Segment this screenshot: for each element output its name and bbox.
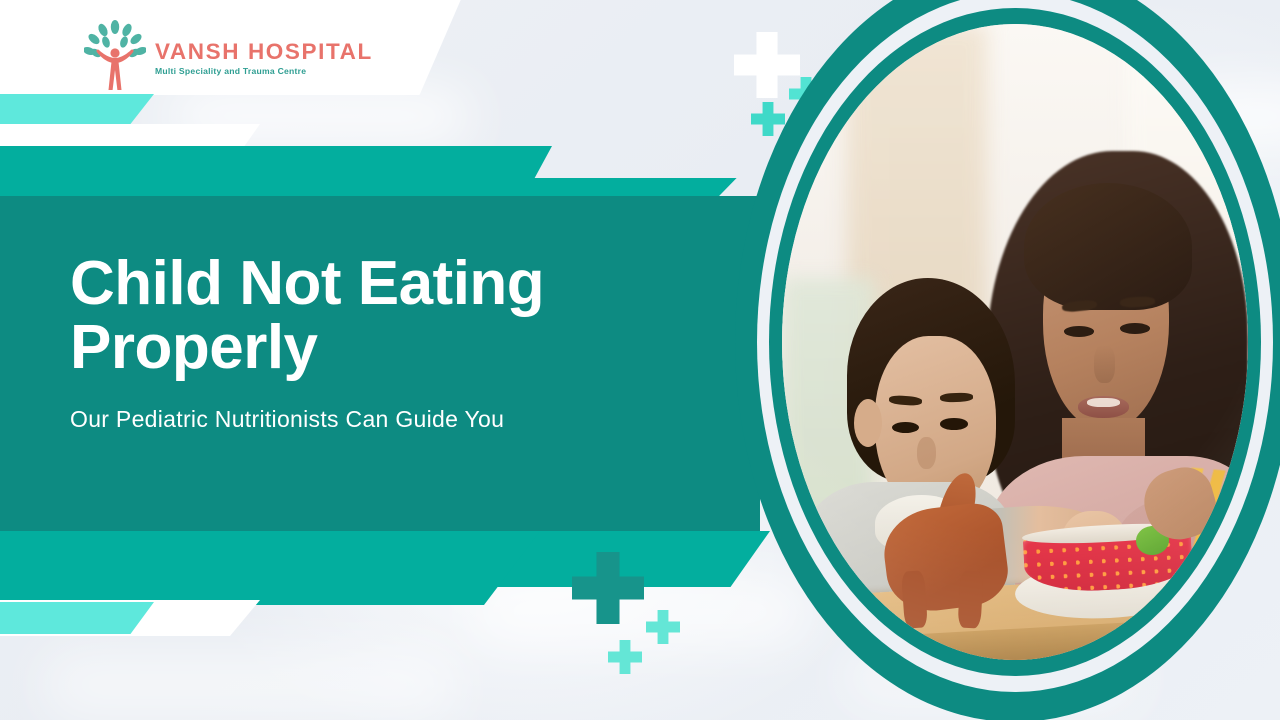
photo-scene (782, 24, 1248, 660)
hospital-promo-banner: VANSH HOSPITAL Multi Speciality and Trau… (0, 0, 1280, 720)
toy-dinosaur-leg (958, 570, 984, 628)
mother-eye (1064, 326, 1094, 337)
background-glow (40, 650, 460, 720)
child-eye (892, 422, 920, 433)
mother-nose (1094, 345, 1115, 383)
child-ear (854, 399, 882, 447)
subheadline: Our Pediatric Nutritionists Can Guide Yo… (70, 406, 690, 433)
mother-hair-front (1024, 183, 1192, 310)
decor-teal-band-bottom-2 (0, 531, 540, 605)
decor-mint-stripe-top (0, 94, 154, 124)
brand-logo: VANSH HOSPITAL Multi Speciality and Trau… (84, 20, 373, 92)
cross-cluster-bottom (568, 550, 688, 670)
tree-with-person-icon (84, 20, 146, 92)
medical-cross-icon (646, 610, 680, 644)
child-eye (940, 418, 968, 429)
headline-line-2: Properly (70, 316, 690, 380)
brand-tagline: Multi Speciality and Trauma Centre (155, 67, 373, 76)
headline-line-1: Child Not Eating (70, 252, 690, 316)
child-nose (917, 437, 936, 469)
brand-name: VANSH HOSPITAL (155, 40, 373, 64)
hero-photo (782, 24, 1248, 660)
medical-cross-icon (572, 552, 644, 624)
mother-teeth (1087, 398, 1120, 408)
hero-photo-composition (735, 0, 1280, 720)
mother-eye (1120, 323, 1150, 334)
hero-copy: Child Not Eating Properly Our Pediatric … (70, 252, 690, 433)
decor-mint-stripe-bottom (0, 602, 154, 634)
medical-cross-icon (608, 640, 642, 674)
